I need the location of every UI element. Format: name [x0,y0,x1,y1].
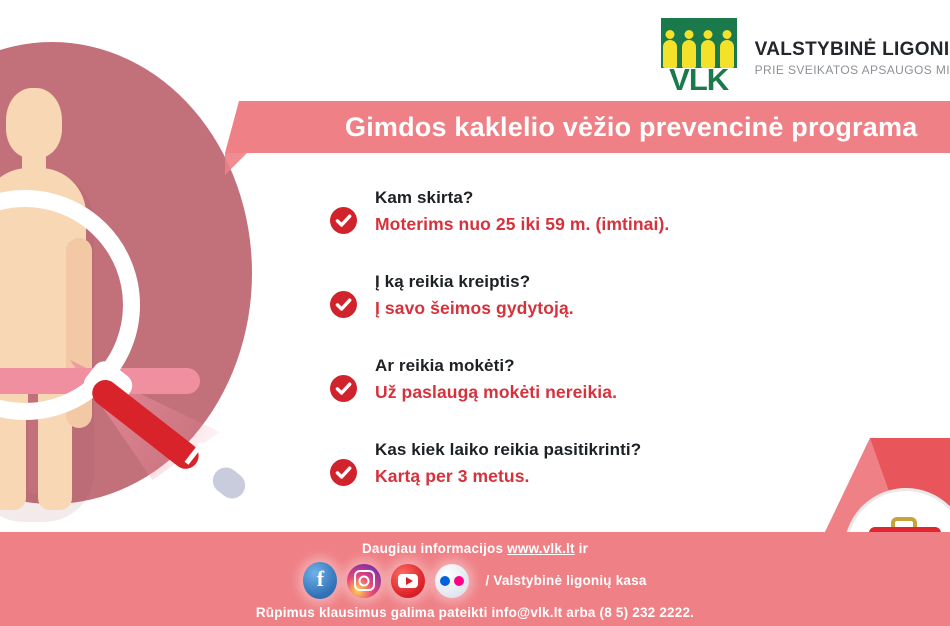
qa-question: Kas kiek laiko reikia pasitikrinti? [375,438,641,463]
organization-subtitle: PRIE SVEIKATOS APSAUGOS MI [755,63,950,77]
qa-question: Ar reikia mokėti? [375,354,617,379]
rose-circle-backdrop [0,42,252,504]
logo-acronym: VLK [657,62,741,98]
qa-text-block: Kam skirta? Moterims nuo 25 iki 59 m. (i… [375,186,669,237]
figure-head [6,88,62,158]
footer-bar: Daugiau informacijos www.vlk.lt ir f / V… [0,532,950,626]
more-info-suffix: ir [575,541,588,556]
contact-line: Rūpimus klausimus galima pateikti info@v… [0,605,950,620]
people-group-icon: VLK [657,18,741,94]
vlk-logo: VLK VALSTYBINĖ LIGONI PRIE SVEIKATOS APS… [657,18,950,94]
flickr-icon[interactable] [435,564,469,598]
more-info-line: Daugiau informacijos www.vlk.lt ir [0,532,950,556]
qa-answer: Už paslaugą mokėti nereikia. [375,379,617,405]
figure-shadow [0,172,94,522]
social-handle-label: / Valstybinė ligonių kasa [485,573,646,588]
qa-text-block: Ar reikia mokėti? Už paslaugą mokėti ner… [375,354,617,405]
check-circle-icon [330,459,357,486]
pink-highlight-band [0,368,200,394]
qa-item: Kam skirta? Moterims nuo 25 iki 59 m. (i… [330,186,930,244]
female-body-silhouette-icon [0,88,110,488]
magnifier-grip-2 [194,447,214,471]
qa-list: Kam skirta? Moterims nuo 25 iki 59 m. (i… [330,186,930,522]
social-links-row: f / Valstybinė ligonių kasa [0,562,950,599]
more-info-prefix: Daugiau informacijos [362,541,507,556]
qa-text-block: Į ką reikia kreiptis? Į savo šeimos gydy… [375,270,574,321]
check-circle-icon [330,207,357,234]
qa-answer: Kartą per 3 metus. [375,463,641,489]
figure-leg-right [38,368,72,510]
website-link[interactable]: www.vlk.lt [507,541,575,556]
title-banner-notch [225,153,247,175]
magnifier-collar [79,356,137,413]
organization-name: VALSTYBINĖ LIGONI [755,39,950,61]
illustration-area [0,0,330,560]
qa-question: Į ką reikia kreiptis? [375,270,574,295]
facebook-icon[interactable]: f [303,562,337,599]
title-banner: Gimdos kaklelio vėžio prevencinė program… [225,101,950,153]
figure-leg-left [0,368,26,510]
figure-neck [22,146,46,176]
infographic-poster: VLK VALSTYBINĖ LIGONI PRIE SVEIKATOS APS… [0,0,950,626]
qa-item: Į ką reikia kreiptis? Į savo šeimos gydy… [330,270,930,328]
magnifying-glass-icon [0,190,140,420]
check-circle-icon [330,375,357,402]
magnifier-tip [208,462,251,503]
page-title: Gimdos kaklelio vėžio prevencinė program… [225,112,917,143]
logo-green-square [661,18,737,68]
check-circle-icon [330,291,357,318]
qa-text-block: Kas kiek laiko reikia pasitikrinti? Kart… [375,438,641,489]
instagram-icon[interactable] [347,564,381,598]
figure-torso [0,168,86,348]
qa-question: Kam skirta? [375,186,669,211]
figure-leg-gap [28,374,38,494]
magnifier-handle [87,375,204,474]
logo-wordmark: VALSTYBINĖ LIGONI PRIE SVEIKATOS APSAUGO… [755,35,950,77]
figure-arm [66,238,92,428]
qa-item: Ar reikia mokėti? Už paslaugą mokėti ner… [330,354,930,412]
youtube-icon[interactable] [391,564,425,598]
qa-answer: Moterims nuo 25 iki 59 m. (imtinai). [375,211,669,237]
qa-item: Kas kiek laiko reikia pasitikrinti? Kart… [330,438,930,496]
magnifier-grip-1 [185,441,205,465]
figure-hips [0,310,84,410]
magnifier-beam [70,360,220,480]
qa-answer: Į savo šeimos gydytoją. [375,295,574,321]
